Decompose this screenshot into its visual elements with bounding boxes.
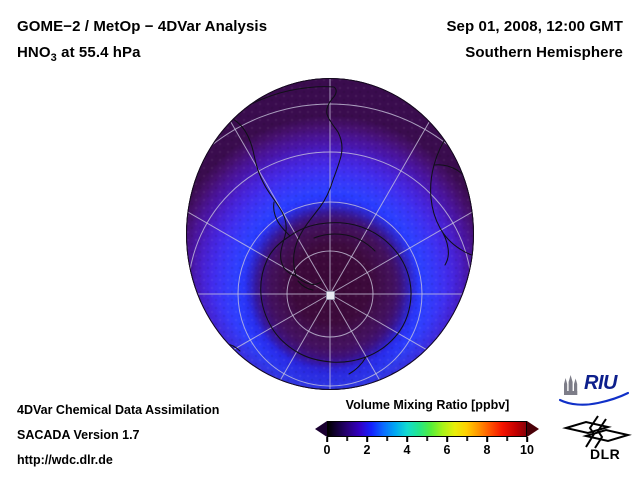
hemisphere-label: Southern Hemisphere xyxy=(465,44,623,61)
coastline-antarctic-peninsula xyxy=(274,202,290,236)
colorbar-tick-major xyxy=(406,437,408,442)
footer-line-version: SACADA Version 1.7 xyxy=(17,428,140,442)
colorbar-title: Volume Mixing Ratio [ppbv] xyxy=(315,398,540,412)
colorbar-tick-labels: 0246810 xyxy=(315,443,540,459)
colorbar-tick-minor xyxy=(386,437,388,441)
riu-wordmark: RIU xyxy=(584,372,617,395)
colorbar-tick-label: 4 xyxy=(404,443,411,457)
coastline-new-zealand xyxy=(392,371,417,384)
colorbar-tick-label: 2 xyxy=(364,443,371,457)
timestamp-label: Sep 01, 2008, 12:00 GMT xyxy=(446,18,623,35)
cathedral-spires-icon xyxy=(564,375,577,395)
coastline-patagonia-tip xyxy=(296,276,321,290)
dlr-logo: DLR xyxy=(562,414,632,472)
coastline-antarctica-inner xyxy=(314,234,375,374)
footer-line-assimilation: 4DVar Chemical Data Assimilation xyxy=(17,403,219,417)
colorbar-tick-minor xyxy=(506,437,508,441)
colorbar: Volume Mixing Ratio [ppbv] 0246810 xyxy=(315,398,540,459)
colorbar-tick-major xyxy=(366,437,368,442)
page-title: GOME−2 / MetOp − 4DVar Analysis xyxy=(17,18,267,35)
coastlines xyxy=(204,87,474,384)
map-overlay xyxy=(186,78,474,390)
polar-map xyxy=(186,78,476,392)
colorbar-tick-label: 8 xyxy=(484,443,491,457)
coastline-south-america xyxy=(231,87,342,276)
colorbar-gradient xyxy=(327,421,527,437)
colorbar-tick-major xyxy=(446,437,448,442)
coastline-australia xyxy=(204,343,240,357)
colorbar-extend-low-arrow xyxy=(315,421,327,437)
coastline-africa xyxy=(431,106,474,265)
riu-logo: RIU xyxy=(558,373,630,407)
colorbar-tick-label: 6 xyxy=(444,443,451,457)
species-subtitle: HNO3 at 55.4 hPa xyxy=(17,44,141,64)
footer-line-url[interactable]: http://wdc.dlr.de xyxy=(17,453,113,467)
colorbar-tick-major xyxy=(326,437,328,442)
colorbar-tick-minor xyxy=(346,437,348,441)
colorbar-bar-row xyxy=(315,419,540,439)
coastline-antarctica xyxy=(261,223,411,363)
colorbar-tick-label: 10 xyxy=(520,443,534,457)
species-pressure: at 55.4 hPa xyxy=(57,44,141,61)
colorbar-tick-minor xyxy=(426,437,428,441)
species-label: HNO xyxy=(17,44,51,61)
colorbar-extend-high-arrow xyxy=(527,421,539,437)
colorbar-tick-major xyxy=(486,437,488,442)
dlr-logo-mark xyxy=(562,414,632,450)
globe-disc xyxy=(186,78,474,390)
colorbar-tick-label: 0 xyxy=(324,443,331,457)
pole-marker xyxy=(326,291,335,300)
colorbar-tick-major xyxy=(526,437,528,442)
figure-canvas: GOME−2 / MetOp − 4DVar Analysis HNO3 at … xyxy=(0,0,640,480)
colorbar-tick-minor xyxy=(466,437,468,441)
dlr-wordmark: DLR xyxy=(590,446,620,462)
